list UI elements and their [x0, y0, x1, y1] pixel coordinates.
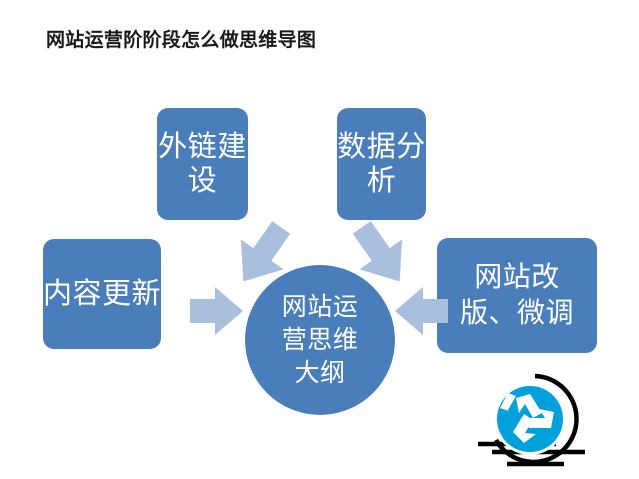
arrow-content-to-center [190, 287, 243, 335]
recycle-logo [478, 372, 593, 476]
node-center-hub[interactable]: 网站运 营思维 大纲 [245, 265, 395, 415]
slide-canvas: 网站运营阶阶段怎么做思维导图 外链建设 数 [0, 0, 639, 479]
arrow-revision-to-center [395, 287, 448, 335]
node-center-hub-label: 网站运 营思维 大纲 [282, 291, 359, 390]
